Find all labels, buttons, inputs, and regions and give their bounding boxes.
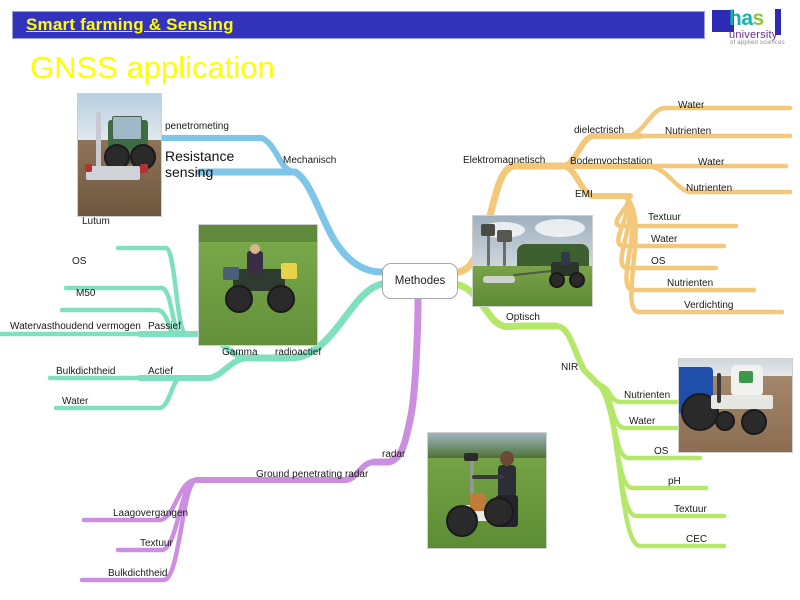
label-watervasthoudend-vermogen: Watervasthoudend vermogen — [10, 321, 141, 332]
photo-gpr-antenna — [464, 453, 478, 461]
label-textuur-nir: Textuur — [674, 504, 707, 515]
photo-penetrometer-light — [85, 164, 92, 172]
label-nutrienten-bodemvochstation: Nutrienten — [686, 183, 732, 194]
label-water-bodemvochstation: Water — [698, 157, 724, 168]
label-actief: Actief — [148, 366, 173, 377]
label-resistance-sensing-text: Resistance sensing — [165, 148, 239, 180]
photo-sampler-wheel-left — [715, 411, 735, 431]
photo-tractor-nir-sampler — [678, 358, 793, 453]
photo-hedge — [199, 225, 317, 242]
label-radar: radar — [382, 449, 405, 460]
label-cec-nir: CEC — [686, 534, 707, 545]
label-elektromagnetisch: Elektromagnetisch — [463, 155, 545, 166]
label-lutum: Lutum — [82, 216, 110, 227]
label-penetrometing: penetrometing — [165, 121, 229, 132]
photo-quad-wheel-rear — [569, 272, 585, 288]
label-nutrienten-emi: Nutrienten — [667, 278, 713, 289]
label-bodemvochstation: Bodemvochstation — [570, 156, 652, 167]
label-m50: M50 — [76, 288, 95, 299]
photo-treeline — [428, 433, 546, 458]
photo-quad-wheel-front — [225, 285, 253, 313]
photo-gpr-handle — [472, 475, 504, 479]
label-water-emi: Water — [651, 234, 677, 245]
photo-penetrometer-frame — [86, 166, 140, 180]
photo-gamma-sensor-box — [281, 263, 297, 279]
label-nutrienten-nir: Nutrienten — [624, 390, 670, 401]
photo-tractor-cab — [112, 116, 142, 140]
photo-windmill-head-2 — [497, 230, 512, 242]
label-os-nir: OS — [654, 446, 668, 457]
label-water-nir: Water — [629, 416, 655, 427]
photo-gpr-wheel-left — [446, 505, 478, 537]
photo-sampler-mast — [717, 373, 721, 403]
label-laagovergangen: Laagovergangen — [113, 508, 188, 519]
label-os-emi: OS — [651, 256, 665, 267]
photo-sampler-wheel-right — [741, 409, 767, 435]
label-optisch: Optisch — [506, 312, 540, 323]
label-water-dielectrisch: Water — [678, 100, 704, 111]
mindmap-center-node[interactable]: Methodes — [382, 263, 458, 299]
label-mechanisch: Mechanisch — [283, 155, 336, 166]
photo-sampler-logo — [739, 371, 753, 383]
photo-quad-gamma-sensor — [198, 224, 318, 346]
photo-operator-head — [500, 451, 514, 466]
photo-quad-wheel-front — [549, 272, 565, 288]
label-radioactief: radioactief — [275, 347, 321, 358]
label-ph-nir: pH — [668, 476, 681, 487]
photo-rider — [561, 252, 570, 265]
label-ground-penetrating-radar: Ground penetrating radar — [256, 469, 368, 480]
photo-rider-torso — [247, 251, 263, 273]
photo-quad-emi-sled — [472, 215, 593, 307]
photo-rear-box — [223, 267, 239, 280]
label-nir: NIR — [561, 362, 578, 373]
label-dielectrisch: dielectrisch — [574, 125, 624, 136]
photo-penetrometer-light-2 — [140, 164, 148, 173]
label-textuur-emi: Textuur — [648, 212, 681, 223]
label-resistance-sensing: Resistance sensing — [165, 148, 239, 180]
label-verdichting-emi: Verdichting — [684, 300, 733, 311]
photo-tractor-penetrometer — [77, 93, 162, 217]
label-water-actief: Water — [62, 396, 88, 407]
label-bulkdichtheid-actief: Bulkdichtheid — [56, 366, 115, 377]
label-os-passief: OS — [72, 256, 86, 267]
label-bulkdichtheid-gpr: Bulkdichtheid — [108, 568, 167, 579]
photo-rider-head — [250, 244, 260, 254]
photo-quad-wheel-rear — [267, 285, 295, 313]
label-emi: EMI — [575, 189, 593, 200]
label-passief: Passief — [148, 321, 181, 332]
slide-canvas: Smart farming & Sensing GNSS application… — [0, 0, 800, 600]
photo-emi-sled — [483, 276, 515, 283]
label-nutrienten-dielectrisch: Nutrienten — [665, 126, 711, 137]
photo-cloud-2 — [535, 219, 585, 237]
photo-gpr-wheel-right — [484, 497, 514, 527]
photo-operator-torso — [498, 465, 516, 497]
label-textuur-gpr: Textuur — [140, 538, 173, 549]
photo-gpr-cart-operator — [427, 432, 547, 549]
photo-windmill-head — [481, 224, 495, 236]
label-gamma: Gamma — [222, 347, 258, 358]
